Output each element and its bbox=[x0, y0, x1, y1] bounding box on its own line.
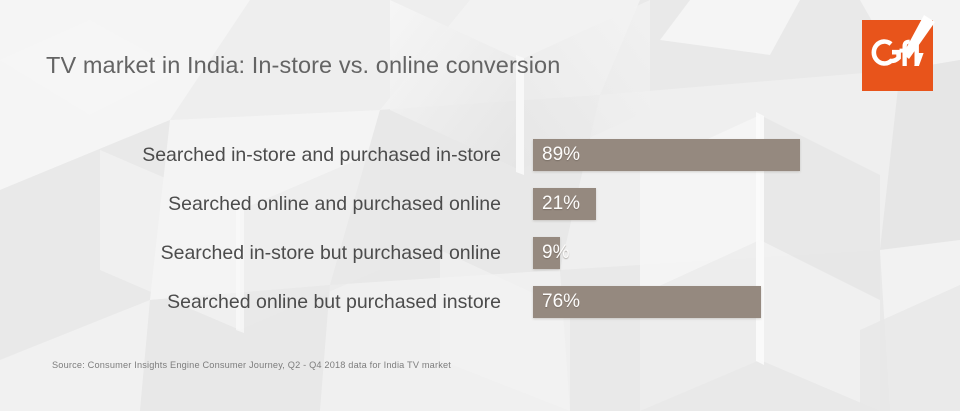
bar-value-label: 21% bbox=[542, 188, 580, 220]
chart-row: Searched in-store and purchased in-store… bbox=[0, 139, 960, 171]
bar-track: 9% bbox=[533, 237, 953, 269]
bar-track: 76% bbox=[533, 286, 953, 318]
source-note: Source: Consumer Insights Engine Consume… bbox=[52, 360, 451, 370]
chart-row: Searched online but purchased instore 76… bbox=[0, 286, 960, 318]
category-label: Searched online and purchased online bbox=[0, 188, 505, 220]
category-label: Searched online but purchased instore bbox=[0, 286, 505, 318]
bar-value-label: 89% bbox=[542, 139, 580, 171]
gfk-logo: GfK bbox=[861, 12, 939, 92]
category-label: Searched in-store and purchased in-store bbox=[0, 139, 505, 171]
slide-canvas: GfK TV market in India: In-store vs. onl… bbox=[0, 0, 960, 411]
page-title: TV market in India: In-store vs. online … bbox=[46, 52, 560, 79]
bar-track: 21% bbox=[533, 188, 953, 220]
bar-value-label: 76% bbox=[542, 286, 580, 318]
chart-row: Searched online and purchased online 21% bbox=[0, 188, 960, 220]
bar-chart: Searched in-store and purchased in-store… bbox=[0, 133, 960, 328]
category-label: Searched in-store but purchased online bbox=[0, 237, 505, 269]
bar-track: 89% bbox=[533, 139, 953, 171]
bar-value-label: 9% bbox=[542, 237, 569, 269]
chart-row: Searched in-store but purchased online 9… bbox=[0, 237, 960, 269]
